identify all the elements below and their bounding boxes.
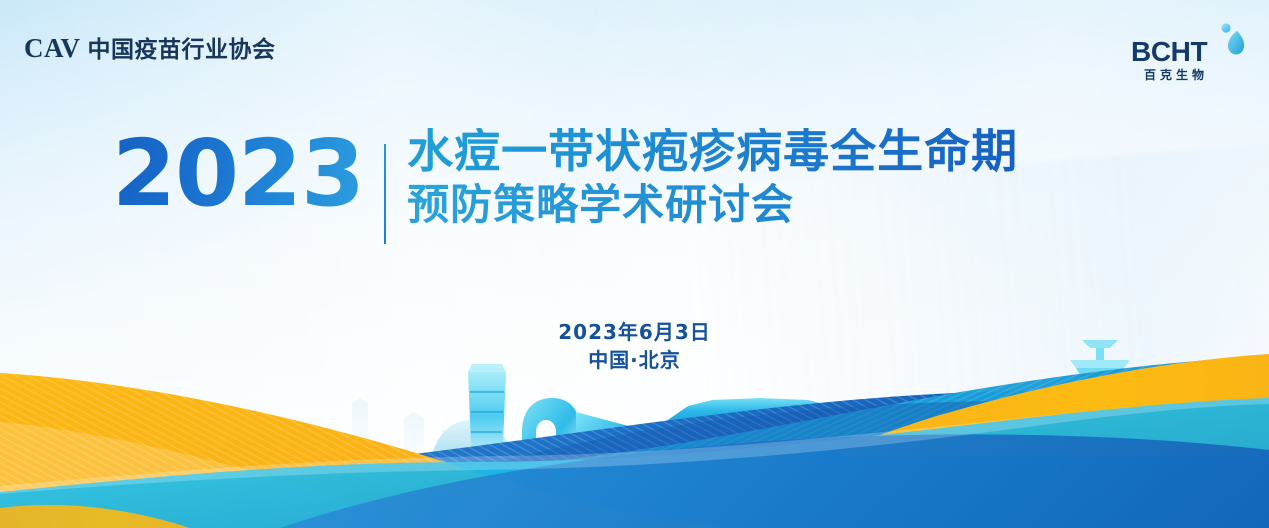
conference-title-lines: 水痘一带状疱疹病毒全生命期 预防策略学术研讨会 (407, 122, 1018, 227)
event-location: 中国·北京 (0, 346, 1269, 374)
association-name: 中国疫苗行业协会 (88, 30, 276, 64)
sponsor-name-en: BCHT (1131, 36, 1207, 68)
event-meta: 2023年6月3日 中国·北京 (0, 318, 1269, 375)
conference-title-line-2: 预防策略学术研讨会 (407, 183, 1018, 227)
conference-year: 2023 (112, 122, 364, 220)
title-divider (384, 144, 386, 244)
event-date: 2023年6月3日 (0, 318, 1269, 346)
cav-mark: CAV (24, 33, 81, 64)
conference-banner: CAV 中国疫苗行业协会 BCHT 百克生物 2023 水痘 (0, 0, 1269, 528)
banner-artwork (0, 0, 1269, 528)
sponsor-logo: BCHT 百克生物 (1131, 26, 1247, 82)
droplet-icon (1217, 22, 1251, 62)
sponsor-name-cn: 百克生物 (1144, 66, 1208, 83)
conference-title-block: 2023 水痘一带状疱疹病毒全生命期 预防策略学术研讨会 (112, 122, 1018, 244)
association-logo: CAV 中国疫苗行业协会 (24, 30, 276, 64)
conference-title-line-1: 水痘一带状疱疹病毒全生命期 (407, 128, 1018, 176)
